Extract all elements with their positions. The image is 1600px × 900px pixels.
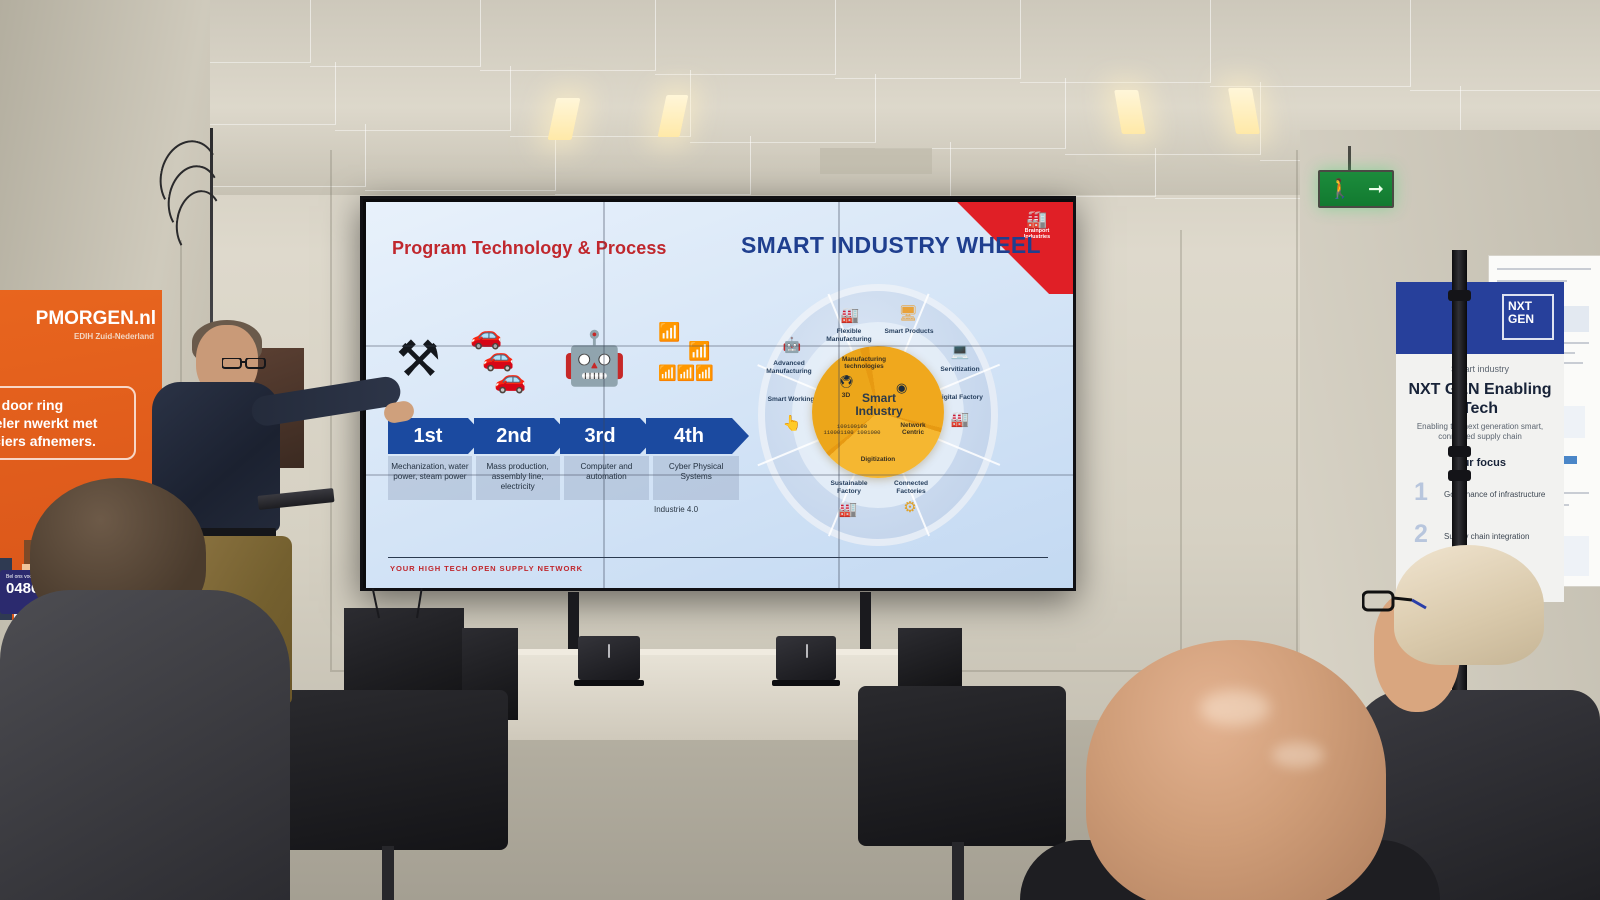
speaker	[578, 636, 640, 680]
arrow-right-icon: ➞	[1368, 180, 1384, 199]
wheel-center-label: Smart Industry	[842, 392, 916, 418]
robot-arm-icon: 🤖	[562, 328, 627, 389]
timeline-chevrons: 1st 2nd 3rd 4th	[388, 418, 743, 454]
chair[interactable]	[858, 686, 1066, 846]
wheel-segment-label: Advanced Manufacturing	[760, 360, 818, 375]
timeline-stage[interactable]: 3rd	[560, 418, 640, 454]
smart-product-icon: 🖥	[888, 304, 928, 322]
wheel-segment-label: Flexible Manufacturing	[820, 328, 878, 343]
wheel-inner-pie: Manufacturing technologies 🖲 3D ◉ Networ…	[812, 346, 944, 478]
speaker	[776, 636, 836, 680]
footer-divider	[388, 557, 1048, 558]
wheel-segment-label: Sustainable Factory	[820, 480, 878, 495]
wifi-robots-icon: 📶 📶 📶📶📶	[658, 322, 714, 382]
emergency-exit-sign: 🚶 ➞	[1318, 170, 1394, 208]
banner-right-subtext: Enabling the next generation smart, conn…	[1402, 422, 1558, 442]
banner-right-eyebrow: Smart industry	[1396, 364, 1564, 374]
binary-icon: 100100100 110001100 1001000	[822, 424, 882, 437]
factory-icon: 🏭	[1009, 212, 1065, 228]
banner-right-focus-title: Our focus	[1396, 457, 1564, 469]
timeline-description: Computer and automation	[564, 456, 650, 500]
subwoofer	[898, 628, 962, 690]
audience-torso	[0, 590, 290, 900]
running-person-icon: 🚶	[1328, 180, 1352, 199]
wheel-segment-label: Servitization	[931, 366, 989, 374]
timeline-description: Mass production, assembly line, electric…	[476, 456, 560, 500]
timeline-stage[interactable]: 2nd	[474, 418, 554, 454]
industrie-caption: Industrie 4.0	[654, 505, 698, 514]
banner-left-quote: r hoe je door ring rendabeler nwerkt met…	[0, 386, 136, 460]
inner-segment-label: Digitization	[848, 456, 908, 463]
hand-touch-icon: 👆	[772, 414, 812, 432]
timeline-description: Mechanization, water power, steam power	[388, 456, 472, 500]
banner-left-logo: PMORGEN.nl	[36, 308, 156, 330]
factory-star-icon: 🏭	[830, 306, 870, 324]
focus-number: 1	[1414, 478, 1428, 507]
eco-factory-icon: 🏭	[828, 500, 868, 518]
banner-left-subtitle: EDIH Zuid-Nederland	[74, 332, 154, 341]
conference-room-scene: 🚶 ➞ PMORGEN.nl EDIH Zuid-Nederland r hoe…	[0, 0, 1600, 900]
inner-segment-label: Manufacturing technologies	[832, 356, 896, 371]
3d-printer-icon: 🖲	[838, 374, 855, 390]
head-highlight	[1200, 690, 1270, 726]
wheel-segment-label: Smart Working	[762, 396, 820, 404]
slide-footer: YOUR HIGH TECH OPEN SUPPLY NETWORK	[390, 564, 583, 573]
focus-number: 2	[1414, 520, 1428, 549]
timeline-stage[interactable]: 4th	[646, 418, 732, 454]
timeline-description: Cyber Physical Systems	[653, 456, 739, 500]
banner-right-heading: NXT GEN Enabling Tech	[1396, 380, 1564, 418]
inner-segment-label: Network Centric	[892, 422, 934, 437]
presentation-slide: 🏭 Brainport Industries Program Technolog…	[366, 202, 1073, 588]
timeline-stage[interactable]: 1st	[388, 418, 468, 454]
chair[interactable]	[278, 690, 508, 850]
glasses-icon	[222, 356, 266, 367]
timeline-descriptions: Mechanization, water power, steam power …	[388, 456, 743, 500]
slide-title-left: Program Technology & Process	[392, 238, 667, 259]
head-highlight	[1272, 742, 1324, 768]
steam-engine-icon: ⚒	[396, 330, 441, 388]
digital-factory-icon: 🏭	[940, 410, 980, 428]
nxt-gen-logo-text: NXT GEN	[1508, 299, 1534, 326]
wheel-segment-label: Connected Factories	[882, 480, 940, 495]
wheel-segment-label: Smart Products	[880, 328, 938, 336]
glasses-icon	[1362, 590, 1428, 612]
slide-title-right: SMART INDUSTRY WHEEL	[741, 232, 1041, 259]
connected-nodes-icon: ⚙	[890, 498, 930, 516]
exit-sign-stem	[1348, 146, 1351, 172]
video-wall[interactable]: 🏭 Brainport Industries Program Technolog…	[360, 196, 1076, 591]
nxt-gen-logo: NXT GEN	[1502, 294, 1554, 340]
assembly-cars-icon: 🚗 🚗 🚗	[470, 324, 526, 390]
smart-industry-wheel: 🏭 Flexible Manufacturing 🖥 Smart Product…	[758, 284, 998, 546]
audience-head	[1086, 640, 1386, 900]
